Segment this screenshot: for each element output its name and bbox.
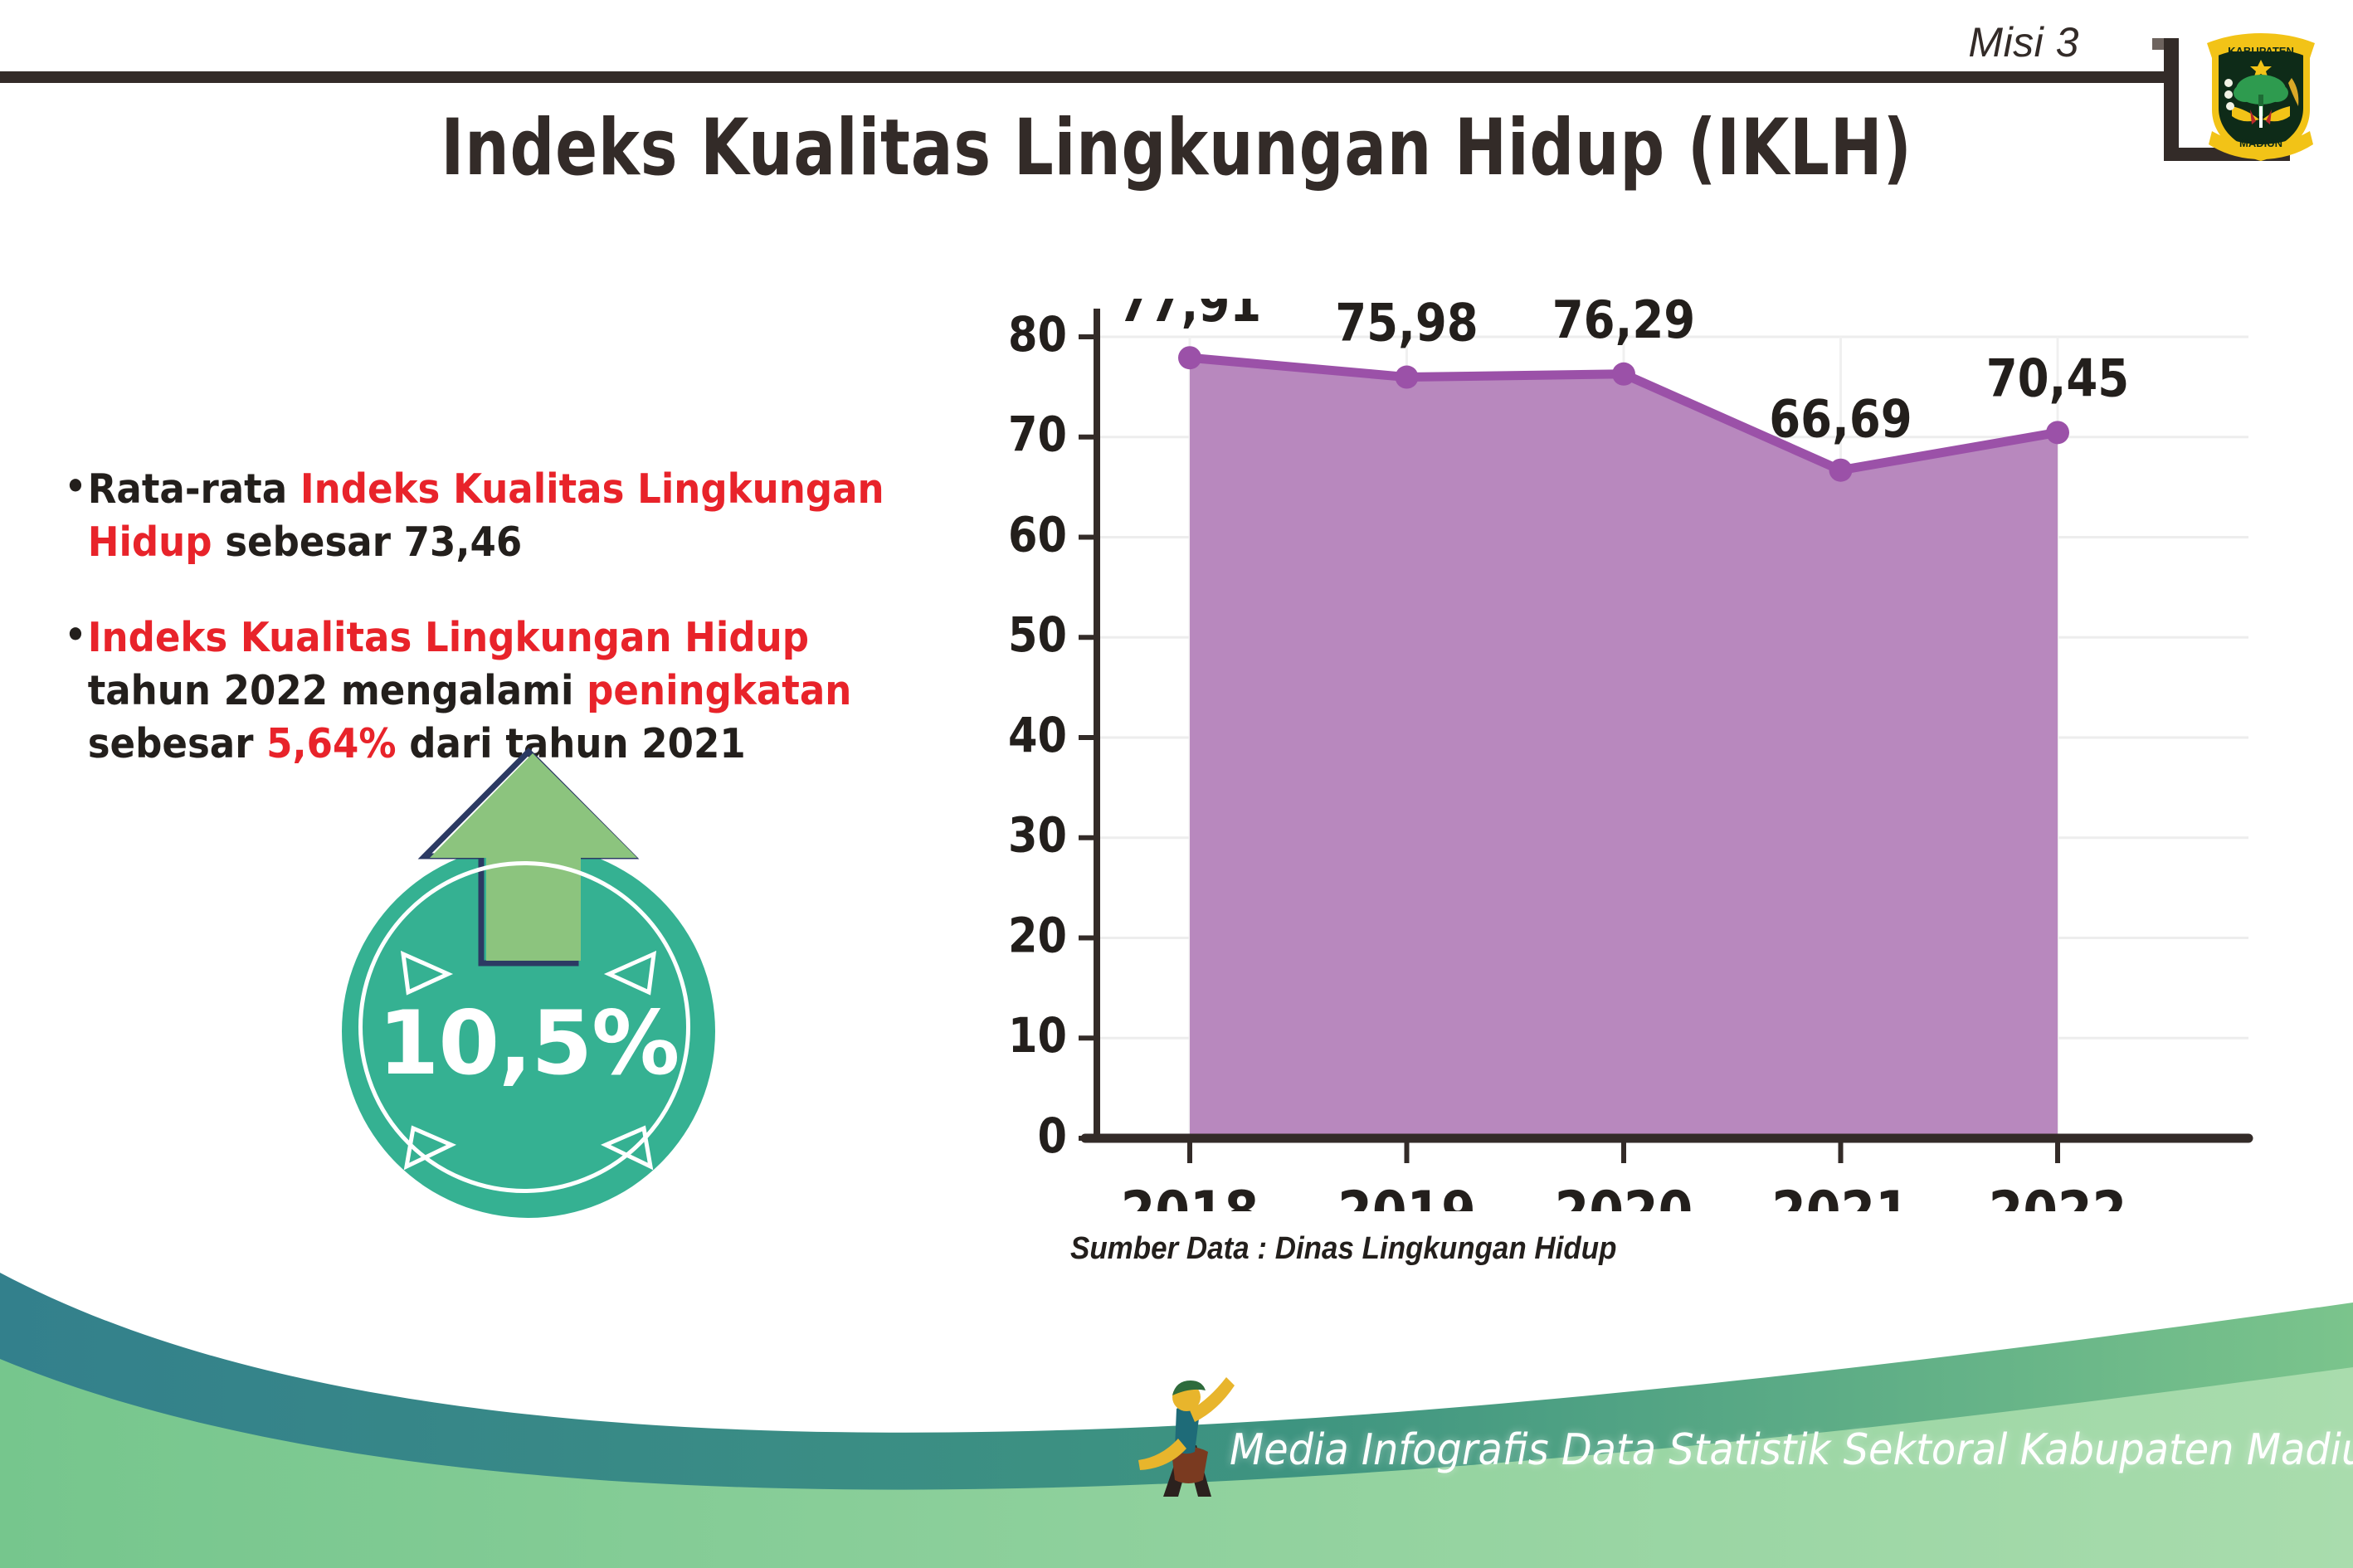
bullet-segment: tahun 2022 mengalami <box>88 667 587 714</box>
bullet-dot-icon: • <box>65 463 86 510</box>
chart-y-tick-label: 10 <box>1008 1007 1067 1064</box>
bullet-dot-icon: • <box>65 611 86 659</box>
bullet-segment: peningkatan <box>587 667 851 714</box>
chart-y-tick-label: 70 <box>1008 407 1067 463</box>
chart-data-point <box>1396 366 1419 389</box>
bullet-text-1: Rata-rata Indeks Kualitas Lingkungan Hid… <box>88 463 912 568</box>
chart-y-tick-label: 50 <box>1008 606 1067 663</box>
chart-y-tick-label: 60 <box>1008 506 1067 562</box>
chart-value-label: 76,29 <box>1552 299 1696 350</box>
chart-y-tick-label: 30 <box>1008 807 1067 864</box>
chart-x-tick-label: 2018 <box>1121 1180 1259 1211</box>
header-bracket-vertical <box>2164 38 2179 159</box>
chart-y-tick-label: 20 <box>1008 907 1067 963</box>
bullet-text-2: Indeks Kualitas Lingkungan Hidup tahun 2… <box>88 611 912 770</box>
chart-value-label: 70,45 <box>1986 348 2130 408</box>
chart-data-point <box>1178 346 1201 369</box>
chart-x-tick-label: 2020 <box>1555 1180 1693 1211</box>
chart-x-tick-label: 2022 <box>1989 1180 2127 1211</box>
chart-x-tick-label: 2019 <box>1337 1180 1476 1211</box>
chart-data-point <box>1829 459 1853 482</box>
svg-text:MADIUN: MADIUN <box>2239 137 2282 149</box>
bullet-segment: sebesar <box>88 720 266 767</box>
svg-text:KABUPATEN: KABUPATEN <box>2228 45 2294 57</box>
chart-x-tick-label: 2021 <box>1771 1180 1910 1211</box>
chart-value-label: 75,98 <box>1335 299 1479 353</box>
iklh-area-chart: 010203040506070802018201920202021202277,… <box>954 299 2282 1211</box>
chart-data-point <box>1612 363 1635 386</box>
header-rule <box>0 71 2174 83</box>
kabupaten-madiun-logo-icon: KABUPATEN MADIUN <box>2199 23 2323 163</box>
bullet-segment: Indeks Kualitas Lingkungan Hidup <box>88 614 809 661</box>
page-title: Indeks Kualitas Lingkungan Hidup (IKLH) <box>236 110 2118 187</box>
chart-area-fill <box>1190 358 2058 1138</box>
bullet-item-2: • Indeks Kualitas Lingkungan Hidup tahun… <box>65 611 912 770</box>
footer-caption: Media Infografis Data Statistik Sektoral… <box>1230 1425 2353 1475</box>
misi-label: Misi 3 <box>1968 18 2079 66</box>
chart-y-tick-label: 0 <box>1037 1108 1067 1164</box>
bullet-segment: Rata-rata <box>88 465 300 513</box>
badge-corner-arrows-icon <box>325 752 773 1216</box>
chart-data-point <box>2046 421 2069 444</box>
chart-value-label: 77,91 <box>1118 299 1262 334</box>
slide: Misi 3 KABUPATEN MADIUN Indeks Kualitas … <box>0 0 2353 1568</box>
bullet-item-1: • Rata-rata Indeks Kualitas Lingkungan H… <box>65 463 912 568</box>
dancer-figure-icon <box>1138 1372 1238 1497</box>
bullet-segment: sebesar 73,46 <box>212 519 523 566</box>
chart-y-tick-label: 40 <box>1008 707 1067 763</box>
chart-value-label: 66,69 <box>1769 389 1912 449</box>
chart-y-tick-label: 80 <box>1008 306 1067 363</box>
badge-percent-label: 10,5% <box>342 992 715 1094</box>
growth-badge: 10,5% <box>325 752 773 1216</box>
